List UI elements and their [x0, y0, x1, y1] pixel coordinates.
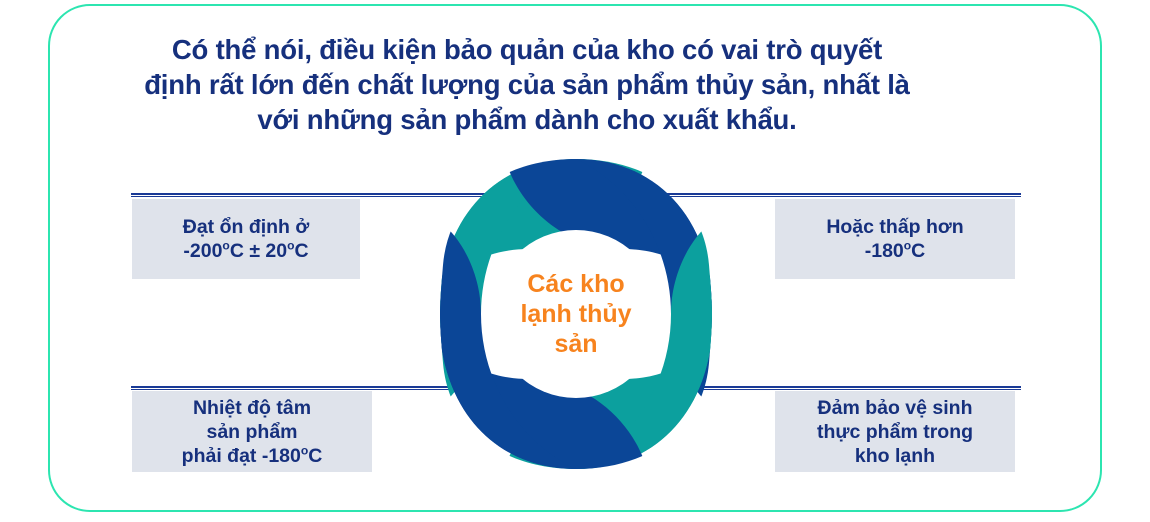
tr-value-1: -180: [865, 240, 904, 262]
headline-line-3: với những sản phẩm dành cho xuất khẩu.: [110, 102, 944, 137]
tl-value-2: C ± 20: [230, 240, 287, 262]
info-box-top-right-line-1: Hoặc thấp hơn: [826, 215, 963, 239]
tl-value-1: -200: [183, 240, 222, 262]
info-box-bottom-right-line-2: thực phẩm trong: [817, 420, 973, 444]
infographic-stage: Có thể nói, điều kiện bảo quản của kho c…: [0, 0, 1150, 522]
headline-line-1: Có thể nói, điều kiện bảo quản của kho c…: [110, 32, 944, 67]
headline-line-2: định rất lớn đến chất lượng của sản phẩm…: [110, 67, 944, 102]
page-title: Có thể nói, điều kiện bảo quản của kho c…: [110, 32, 944, 137]
tr-value-2: C: [911, 240, 925, 262]
central-logo: Các kho lạnh thủy sản: [437, 157, 715, 471]
bl-value-1: phải đạt -180: [182, 445, 301, 467]
logo-core-disc: [492, 230, 660, 398]
info-box-top-right-line-2: -180oC: [865, 239, 926, 263]
info-box-bottom-left: Nhiệt độ tâm sản phẩm phải đạt -180oC: [132, 391, 372, 472]
pinwheel-icon: [437, 157, 715, 471]
tl-value-3: C: [295, 240, 309, 262]
info-box-bottom-right: Đảm bảo vệ sinh thực phẩm trong kho lạnh: [775, 391, 1015, 472]
info-box-bottom-left-line-3: phải đạt -180oC: [182, 444, 323, 468]
info-box-bottom-left-line-2: sản phẩm: [206, 420, 297, 444]
degree-icon: o: [287, 239, 294, 253]
bl-value-2: C: [308, 445, 322, 467]
degree-icon: o: [222, 239, 229, 253]
info-box-top-left-line-2: -200oC ± 20oC: [183, 239, 308, 263]
info-box-bottom-right-line-1: Đảm bảo vệ sinh: [818, 396, 973, 420]
info-box-bottom-left-line-1: Nhiệt độ tâm: [193, 396, 311, 420]
info-box-bottom-right-line-3: kho lạnh: [855, 444, 935, 468]
info-box-top-left: Đạt ổn định ở -200oC ± 20oC: [132, 199, 360, 279]
info-box-top-left-line-1: Đạt ổn định ở: [183, 215, 310, 239]
info-box-top-right: Hoặc thấp hơn -180oC: [775, 199, 1015, 279]
